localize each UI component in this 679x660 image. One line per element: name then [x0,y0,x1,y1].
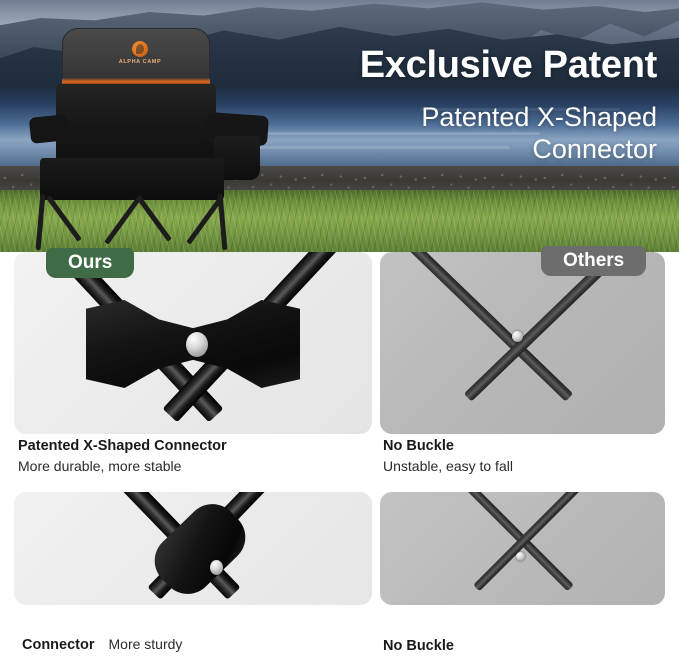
caption-title: No Buckle [383,438,513,454]
alpha-camp-emblem-icon [132,41,148,57]
caption-subtitle: Unstable, easy to fall [383,458,513,474]
hero-subtitle-line-1: Patented X-Shaped [421,102,657,133]
badge-ours-row1: Ours [46,248,134,278]
caption-title: Connector [22,637,95,653]
chair-backrest [56,84,216,168]
ours-connector-image-row1 [14,252,372,434]
caption-ours-row2: Connector More sturdy [22,636,182,653]
caption-subtitle: More durable, more stable [18,458,227,474]
caption-subtitle: More sturdy [109,636,183,652]
chair-leg [36,194,46,250]
chair-cross-brace [104,198,140,245]
camping-chair-image: ALPHA CAMP [18,28,274,252]
chair-cross-brace [136,195,172,242]
caption-ours-row1: Patented X-Shaped Connector More durable… [18,438,227,474]
caption-others-row1: No Buckle Unstable, easy to fall [383,438,513,474]
others-connector-image-row2 [380,492,665,605]
caption-title: Patented X-Shaped Connector [18,438,227,454]
brand-logo-text: ALPHA CAMP [119,59,161,65]
chair-left-armrest [29,114,70,144]
ours-connector-image-row2 [14,492,372,605]
caption-title: No Buckle [383,638,454,654]
hero-banner: ALPHA CAMP Exclusive Patent Patented X-S… [0,0,679,252]
chair-seat [40,158,224,200]
hero-title: Exclusive Patent [360,44,657,87]
chair-cross-brace [46,195,82,242]
connector-rivet-icon [210,560,223,575]
brand-logo: ALPHA CAMP [110,38,170,68]
caption-others-row2: No Buckle [383,638,454,654]
hero-subtitle-line-2: Connector [532,134,657,165]
badge-others-row1: Others [541,246,646,276]
connector-rivet-icon [516,552,525,561]
connector-rivet-icon [512,331,523,342]
connector-rivet-icon [186,332,208,357]
others-connector-image-row1 [380,252,665,434]
chair-cross-brace [186,198,222,245]
